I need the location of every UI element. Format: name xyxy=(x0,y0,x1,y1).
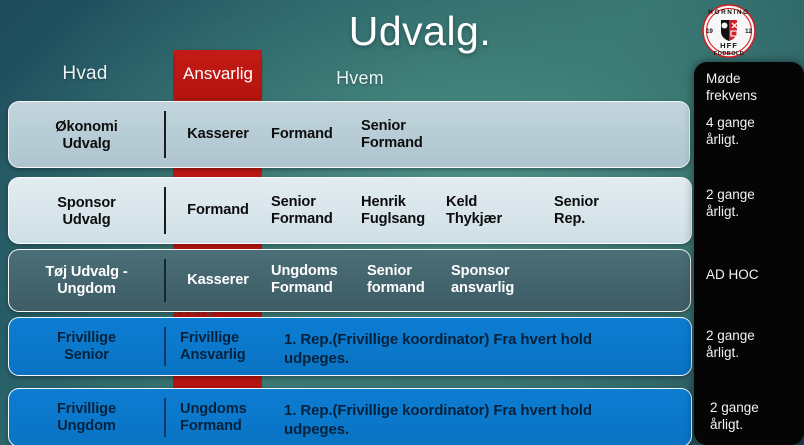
row-responsible-cell: Kasserer xyxy=(172,126,264,143)
frequency-0-line1: 4 gange xyxy=(706,114,796,131)
table-row[interactable]: Frivillige Senior Frivillige Ansvarlig 1… xyxy=(8,317,692,376)
row-who-cell-2: Senior formand xyxy=(367,263,455,296)
row-what-line1: Tøj Udvalg - xyxy=(9,264,164,281)
frequency-2-line1: AD HOC xyxy=(706,266,796,283)
row-who-2-line1: Senior xyxy=(361,118,461,135)
row-what-line1: Frivillige xyxy=(9,330,164,347)
row-who-line2: udpeges. xyxy=(284,420,674,439)
row-what-cell: Økonomi Udvalg xyxy=(9,119,164,152)
row-what-line2: Senior xyxy=(9,347,164,364)
row-divider xyxy=(164,187,166,234)
frequency-4-line2: årligt. xyxy=(710,416,800,433)
row-divider xyxy=(164,111,166,158)
row-what-line2: Ungdom xyxy=(9,281,164,298)
row-responsible-line1: Kasserer xyxy=(172,272,264,289)
frequency-value-0: 4 gange årligt. xyxy=(706,114,796,148)
row-what-cell: Tøj Udvalg - Ungdom xyxy=(9,264,164,297)
row-who-cell-2: Henrik Fuglsang xyxy=(361,194,447,227)
slide-canvas: Udvalg. Hvad Ansvarlig Hvem Tøj Udvalg -… xyxy=(0,0,804,445)
row-responsible-line2: Ansvarlig xyxy=(180,347,280,364)
frequency-1-line1: 2 gange xyxy=(706,186,796,203)
row-who-line1: 1. Rep.(Frivillige koordinator) Fra hver… xyxy=(284,330,674,349)
frequency-value-4: 2 gange årligt. xyxy=(710,399,800,433)
svg-text:12: 12 xyxy=(745,29,752,35)
svg-text:HFF: HFF xyxy=(720,41,738,50)
frequency-title-line1: Møde xyxy=(706,70,796,87)
row-responsible-cell: Frivillige Ansvarlig xyxy=(172,330,280,363)
row-who-3-line1: Sponsor xyxy=(451,263,547,280)
column-header-ansvarlig: Ansvarlig xyxy=(175,50,261,98)
row-responsible-line1: Frivillige xyxy=(180,330,280,347)
row-who-line1: 1. Rep.(Frivillige koordinator) Fra hver… xyxy=(284,401,674,420)
row-who-line2: udpeges. xyxy=(284,349,674,368)
row-who-2-line1: Senior xyxy=(367,263,455,280)
row-who-1-line1: Senior xyxy=(271,194,357,211)
row-who-cell-4: Senior Rep. xyxy=(554,194,644,227)
page-title: Udvalg. xyxy=(255,8,585,55)
row-responsible-line1: Kasserer xyxy=(172,126,264,143)
row-who-4-line1: Senior xyxy=(554,194,644,211)
table-row[interactable]: Frivillige Ungdom Ungdoms Formand 1. Rep… xyxy=(8,388,692,445)
row-who-4-line2: Rep. xyxy=(554,211,644,228)
row-what-line1: Økonomi xyxy=(9,119,164,136)
svg-text:19: 19 xyxy=(706,29,713,35)
frequency-value-2: AD HOC xyxy=(706,266,796,283)
frequency-3-line2: årligt. xyxy=(706,344,796,361)
row-who-2-line1: Henrik xyxy=(361,194,447,211)
row-divider xyxy=(164,327,166,366)
frequency-title-line2: frekvens xyxy=(706,87,796,104)
row-who-3-line1: Keld xyxy=(446,194,532,211)
row-who-cell-3: Sponsor ansvarlig xyxy=(451,263,547,296)
frequency-panel: Møde frekvens 4 gange årligt. 2 gange år… xyxy=(694,62,804,445)
frequency-3-line1: 2 gange xyxy=(706,327,796,344)
frequency-value-1: 2 gange årligt. xyxy=(706,186,796,220)
frequency-4-line1: 2 gange xyxy=(710,399,800,416)
column-header-hvem: Hvem xyxy=(300,68,420,89)
row-who-cell-3: Keld Thykjær xyxy=(446,194,532,227)
table-row[interactable]: Sponsor Udvalg Formand Senior Formand He… xyxy=(8,177,692,244)
row-what-line2: Udvalg xyxy=(9,212,164,229)
row-who-2-line2: Formand xyxy=(361,135,461,152)
row-divider xyxy=(164,398,166,437)
row-what-line2: Ungdom xyxy=(9,418,164,435)
horning-fodbold-logo-icon: HORNING 19 12 HFF FODBOLD xyxy=(700,4,758,59)
row-what-line2: Udvalg xyxy=(9,136,164,153)
row-who-cell-1: Formand xyxy=(271,126,361,143)
row-who-2-line2: formand xyxy=(367,280,455,297)
frequency-panel-title: Møde frekvens xyxy=(706,70,796,104)
row-who-3-line2: Thykjær xyxy=(446,211,532,228)
column-header-hvad: Hvad xyxy=(40,63,130,85)
row-who-2-line2: Fuglsang xyxy=(361,211,447,228)
row-who-cell-1: Ungdoms Formand xyxy=(271,263,367,296)
row-what-cell: Frivillige Ungdom xyxy=(9,401,164,434)
frequency-0-line2: årligt. xyxy=(706,131,796,148)
table-row[interactable]: Økonomi Udvalg Kasserer Formand Senior F… xyxy=(8,101,690,168)
table-row[interactable]: Tøj Udvalg - Ungdom Kasserer Ungdoms For… xyxy=(8,249,691,312)
row-what-line1: Frivillige xyxy=(9,401,164,418)
row-who-1-line1: Formand xyxy=(271,126,361,143)
row-who-1-line2: Formand xyxy=(271,280,367,297)
row-responsible-line1: Ungdoms xyxy=(180,401,288,418)
row-what-cell: Frivillige Senior xyxy=(9,330,164,363)
row-responsible-cell: Kasserer xyxy=(172,272,264,289)
row-what-cell: Sponsor Udvalg xyxy=(9,195,164,228)
svg-text:FODBOLD: FODBOLD xyxy=(714,51,744,57)
row-who-1-line2: Formand xyxy=(271,211,357,228)
row-divider xyxy=(164,259,166,302)
row-who-cell: 1. Rep.(Frivillige koordinator) Fra hver… xyxy=(284,330,674,368)
frequency-1-line2: årligt. xyxy=(706,203,796,220)
frequency-value-3: 2 gange årligt. xyxy=(706,327,796,361)
svg-text:HORNING: HORNING xyxy=(708,9,749,16)
row-who-1-line1: Ungdoms xyxy=(271,263,367,280)
row-responsible-cell: Formand xyxy=(172,202,264,219)
row-responsible-line2: Formand xyxy=(180,418,288,435)
row-responsible-cell: Ungdoms Formand xyxy=(172,401,288,434)
row-who-3-line2: ansvarlig xyxy=(451,280,547,297)
row-who-cell-2: Senior Formand xyxy=(361,118,461,151)
row-who-cell-1: Senior Formand xyxy=(271,194,357,227)
row-responsible-line1: Formand xyxy=(172,202,264,219)
row-what-line1: Sponsor xyxy=(9,195,164,212)
row-who-cell: 1. Rep.(Frivillige koordinator) Fra hver… xyxy=(284,401,674,439)
